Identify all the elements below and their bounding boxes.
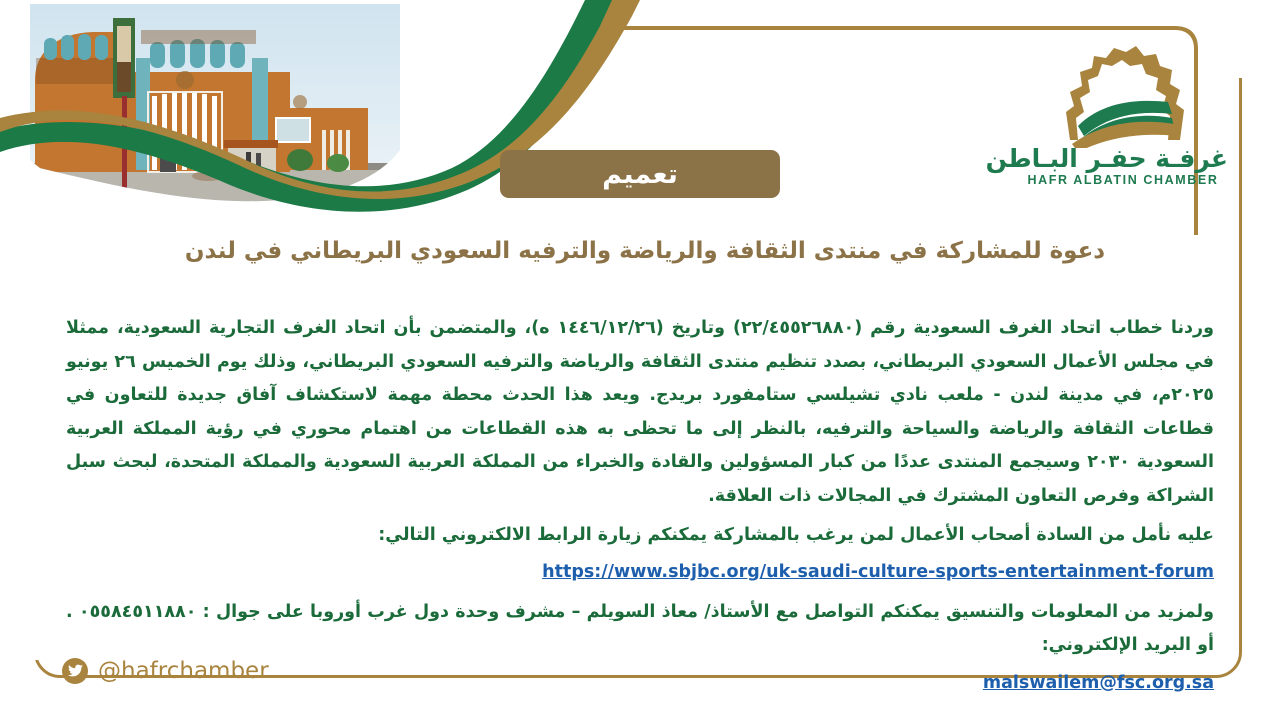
twitter-handle[interactable]: @hafrchamber xyxy=(62,658,269,684)
chamber-logo: غرفـة حفـر البـاطن HAFR ALBATIN CHAMBER xyxy=(1018,40,1228,210)
paragraph-contact: ولمزيد من المعلومات والتنسيق يمكنكم التو… xyxy=(66,596,1214,663)
chamber-crest-icon xyxy=(1048,40,1198,148)
chamber-logo-name-en: HAFR ALBATIN CHAMBER xyxy=(1018,173,1228,187)
twitter-handle-text: @hafrchamber xyxy=(98,658,269,684)
paragraph-invite: عليه نأمل من السادة أصحاب الأعمال لمن ير… xyxy=(66,519,1214,553)
forum-link-row: https://www.sbjbc.org/uk-saudi-culture-s… xyxy=(66,556,1214,590)
forum-link[interactable]: https://www.sbjbc.org/uk-saudi-culture-s… xyxy=(542,562,1214,582)
chamber-logo-name-ar: غرفـة حفـر البـاطن xyxy=(1018,146,1228,172)
email-link[interactable]: malswailem@fsc.org.sa xyxy=(983,673,1214,693)
document-body: وردنا خطاب اتحاد الغرف السعودية رقم (٢٢/… xyxy=(66,312,1214,701)
chamber-building-photo xyxy=(28,0,406,214)
page-title: دعوة للمشاركة في منتدى الثقافة والرياضة … xyxy=(170,236,1120,267)
paragraph-intro: وردنا خطاب اتحاد الغرف السعودية رقم (٢٢/… xyxy=(66,312,1214,514)
circular-badge-label: تعميم xyxy=(602,159,678,190)
circular-badge: تعميم xyxy=(500,150,780,198)
twitter-bird-icon xyxy=(62,658,88,684)
